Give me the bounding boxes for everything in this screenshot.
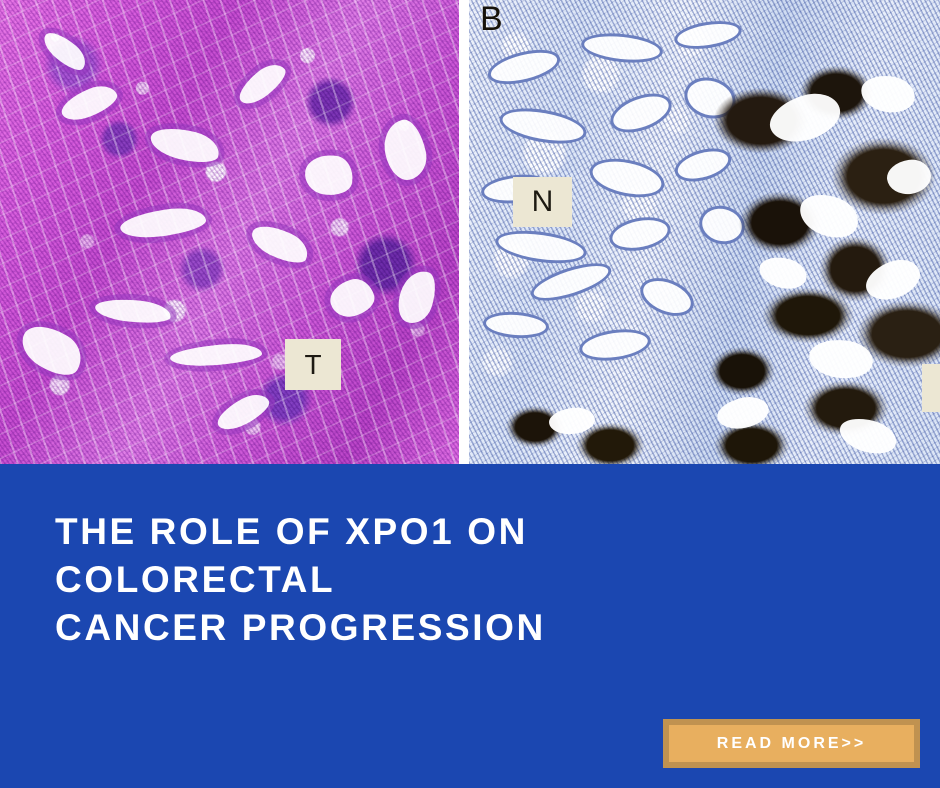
he-gland-lumens (0, 0, 459, 464)
figure-marker-normal: N (513, 177, 572, 227)
panel-divider (459, 0, 469, 464)
figure-marker-normal-text: N (532, 185, 554, 219)
histology-figure: T (0, 0, 940, 464)
figure-marker-tumor: T (285, 339, 341, 390)
figure-marker-tumor-text: T (304, 349, 321, 381)
ihc-tumor-lumens (469, 0, 940, 464)
figure-panel-label-b: B (480, 2, 503, 36)
histology-panel-he: T (0, 0, 459, 464)
figure-marker-edge-clipped (922, 364, 940, 412)
page-title: The Role of XPO1 on Colorectal Cancer Pr… (55, 508, 815, 652)
read-more-button[interactable]: Read More>> (663, 719, 920, 768)
histology-panel-ihc: B N (469, 0, 940, 464)
read-more-button-label: Read More>> (717, 735, 866, 753)
poster-card: T (0, 0, 940, 788)
